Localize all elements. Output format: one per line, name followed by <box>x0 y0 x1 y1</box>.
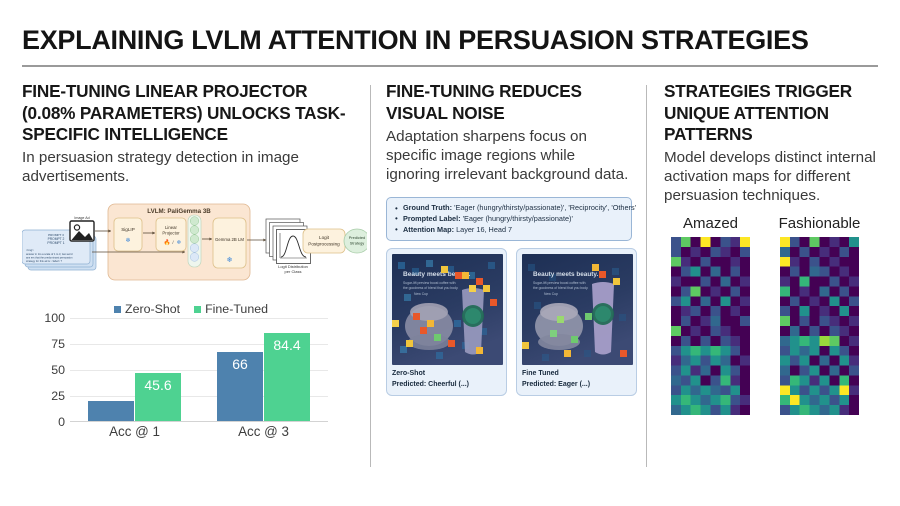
attention-heatmaps: Amazed <box>664 215 878 415</box>
info-value: Layer 16, Head 7 <box>456 225 512 234</box>
architecture-svg: LVLM: PaliGemma 3B PROMPT 3 PROMPT 2 PRO… <box>22 200 367 284</box>
y-tick: 75 <box>51 337 65 351</box>
svg-text:Projector: Projector <box>162 231 180 236</box>
predicted-strategy-label: Predicted <box>349 235 365 240</box>
y-tick: 0 <box>58 415 65 429</box>
heatmap-grid-amazed <box>664 237 757 415</box>
bar-group-acc1: 45.6 <box>70 318 199 421</box>
y-tick: 25 <box>51 389 65 403</box>
panel-caption-pred: Predicted: Cheerful (...) <box>392 381 469 388</box>
left-heading: FINE-TUNING LINEAR PROJECTOR (0.08% PARA… <box>22 81 356 144</box>
info-label: Attention Map: <box>403 225 454 234</box>
lvlm-label: LVLM: PaliGemma 3B <box>147 208 211 215</box>
legend-label-fine-tuned: Fine-Tuned <box>205 302 268 316</box>
y-tick: 100 <box>44 311 65 325</box>
right-subtext: Model develops distinct internal activat… <box>664 148 878 205</box>
svg-text:New Cup: New Cup <box>414 292 428 296</box>
title-section: EXPLAINING LVLM ATTENTION IN PERSUASION … <box>0 0 900 67</box>
gemma-label: Gemma 2B LM <box>215 237 244 242</box>
legend-label-zero-shot: Zero-Shot <box>125 302 180 316</box>
snowflake-icon-3: ❄ <box>227 256 233 264</box>
mid-heading: FINE-TUNING REDUCES VISUAL NOISE <box>386 81 632 123</box>
bar-zero-shot-acc3: 66 <box>217 352 263 421</box>
column-right: STRATEGIES TRIGGER UNIQUE ATTENTION PATT… <box>646 81 878 487</box>
info-value: 'Eager (hungry/thirsty/passionate)', 'Re… <box>454 203 636 212</box>
panel-caption-fine-tuned: Fine Tuned Predicted: Eager (...) <box>522 369 631 389</box>
siglip-label: SigLIP <box>121 227 135 232</box>
heatmap-title-amazed: Amazed <box>664 215 757 232</box>
info-label: Ground Truth: <box>403 203 452 212</box>
attention-panels: Beauty meets beauty. Sugar-lift preview … <box>386 248 632 395</box>
chart-legend: Zero-Shot Fine-Tuned <box>36 300 346 318</box>
snowflake-icon-2: ❄ <box>177 239 182 246</box>
heatmap-grid-fashionable <box>773 237 866 415</box>
bar-group-acc3: 66 84.4 <box>199 318 328 421</box>
svg-text:the goodness of blend that you: the goodness of blend that you body. <box>403 286 458 290</box>
bar-zero-shot-acc1 <box>88 401 134 422</box>
panel-caption-zero-shot: Zero-Shot Predicted: Cheerful (...) <box>392 369 501 389</box>
legend-item-zero-shot: Zero-Shot <box>114 302 180 316</box>
info-label: Prompted Label: <box>403 214 461 223</box>
svg-text:Beauty meets beauty.: Beauty meets beauty. <box>533 271 598 278</box>
legend-item-fine-tuned: Fine-Tuned <box>194 302 268 316</box>
ground-truth-info-box: Ground Truth: 'Eager (hungry/thirsty/pas… <box>386 197 632 241</box>
fire-icon: 🔥 <box>164 238 171 246</box>
heatmap-fashionable: Fashionable <box>773 215 866 415</box>
svg-text:Postprocessing: Postprocessing <box>308 242 340 247</box>
mid-subtext: Adaptation sharpens focus on specific im… <box>386 127 632 184</box>
chart-grid: 45.6 66 84.4 <box>70 318 328 422</box>
column-divider-right <box>646 85 647 467</box>
column-divider-left <box>370 85 371 467</box>
accuracy-bar-chart: Zero-Shot Fine-Tuned 100 75 50 25 0 <box>36 300 346 450</box>
svg-text:<img>: <img> <box>26 248 34 252</box>
bar-fine-tuned-acc1: 45.6 <box>135 373 181 421</box>
svg-text:Sugar-lift preview boost coffe: Sugar-lift preview boost coffee with <box>403 281 456 285</box>
svg-text:answer in 1to a scale of 1 to: answer in 1to a scale of 1 to 3, two-wor… <box>26 252 73 256</box>
svg-text:ans ers that the predomina: ans ers that the predominant persuasion <box>26 256 73 260</box>
projector-label: Linear <box>165 225 178 230</box>
legend-swatch-zero-shot <box>114 306 121 313</box>
svg-text:strategy for this ad is: <labe: strategy for this ad is: <label> ? <box>26 259 63 263</box>
x-tick-label: Acc @ 1 <box>70 424 199 439</box>
info-value: 'Eager (hungry/thirsty/passionate)' <box>463 214 573 223</box>
svg-text:Strategy: Strategy <box>350 241 365 246</box>
column-middle: FINE-TUNING REDUCES VISUAL NOISE Adaptat… <box>370 81 646 487</box>
svg-text:Image Ad: Image Ad <box>74 216 89 220</box>
chart-plot-area: 100 75 50 25 0 <box>36 318 346 444</box>
y-tick: 50 <box>51 363 65 377</box>
x-axis-labels: Acc @ 1 Acc @ 3 <box>70 424 328 439</box>
heatmap-title-fashionable: Fashionable <box>773 215 866 232</box>
attention-map-zero-shot: Beauty meets beauty. Sugar-lift preview … <box>392 254 503 365</box>
bar-value-label: 45.6 <box>135 377 181 393</box>
column-left: FINE-TUNING LINEAR PROJECTOR (0.08% PARA… <box>22 81 370 487</box>
info-line-ground-truth: Ground Truth: 'Eager (hungry/thirsty/pas… <box>394 203 624 214</box>
svg-text:the goodness of blend that you: the goodness of blend that you body. <box>533 286 588 290</box>
left-subtext: In persuasion strategy detection in imag… <box>22 148 356 186</box>
svg-text:per Class: per Class <box>285 269 302 274</box>
snowflake-icon: ❄ <box>125 237 130 244</box>
panel-fine-tuned: Beauty meets beauty. Sugar-lift preview … <box>516 248 637 395</box>
svg-text:PROMPT 1: PROMPT 1 <box>47 241 64 245</box>
info-line-attention-map: Attention Map: Layer 16, Head 7 <box>394 225 624 236</box>
y-axis: 100 75 50 25 0 <box>36 318 70 422</box>
columns-container: FINE-TUNING LINEAR PROJECTOR (0.08% PARA… <box>0 67 900 487</box>
info-line-prompted-label: Prompted Label: 'Eager (hungry/thirsty/p… <box>394 214 624 225</box>
bar-value-label: 66 <box>217 356 263 372</box>
legend-swatch-fine-tuned <box>194 306 201 313</box>
panel-caption-title: Zero-Shot <box>392 370 425 377</box>
panel-caption-title: Fine Tuned <box>522 370 559 377</box>
right-heading: STRATEGIES TRIGGER UNIQUE ATTENTION PATT… <box>664 81 878 144</box>
panel-caption-pred: Predicted: Eager (...) <box>522 381 590 388</box>
attention-map-fine-tuned: Beauty meets beauty. Sugar-lift preview … <box>522 254 633 365</box>
poster-root: EXPLAINING LVLM ATTENTION IN PERSUASION … <box>0 0 900 506</box>
heatmap-amazed: Amazed <box>664 215 757 415</box>
page-title: EXPLAINING LVLM ATTENTION IN PERSUASION … <box>22 26 878 54</box>
postproc-label: Logit <box>319 235 330 240</box>
chart-bars: 45.6 66 84.4 <box>70 318 328 421</box>
bar-fine-tuned-acc3: 84.4 <box>264 333 310 421</box>
x-axis-line <box>70 421 328 422</box>
x-tick-label: Acc @ 3 <box>199 424 328 439</box>
panel-zero-shot: Beauty meets beauty. Sugar-lift preview … <box>386 248 507 395</box>
svg-text:Sugar-lift preview boost coffe: Sugar-lift preview boost coffee with <box>533 281 586 285</box>
svg-text:New Cup: New Cup <box>544 292 558 296</box>
bar-value-label: 84.4 <box>264 337 310 353</box>
architecture-diagram: LVLM: PaliGemma 3B PROMPT 3 PROMPT 2 PRO… <box>22 200 367 284</box>
